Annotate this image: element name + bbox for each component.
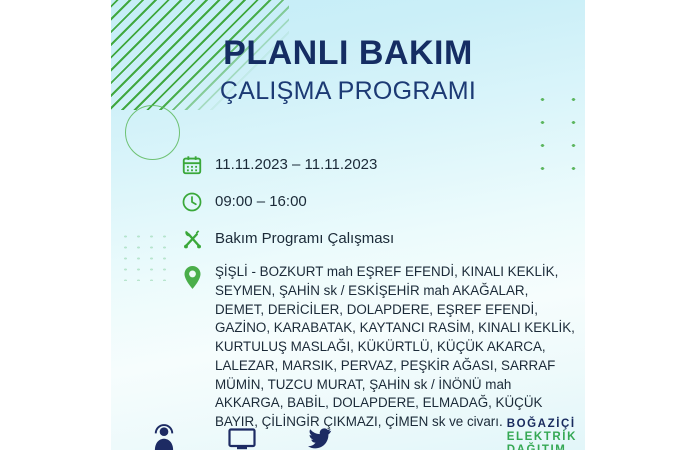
tools-icon: [179, 226, 205, 252]
info-row-address: ŞİŞLİ - BOZKURT mah EŞREF EFENDİ, KINALI…: [179, 263, 579, 432]
page-title: PLANLI BAKIM: [111, 36, 585, 72]
maintenance-notice-card: PLANLI BAKIM ÇALIŞMA PROGRAMI: [111, 0, 585, 450]
calendar-icon: [179, 152, 205, 178]
logo-line-3: DAĞITIM: [507, 444, 577, 450]
info-row-date: 11.11.2023 – 11.11.2023: [179, 152, 579, 178]
customer-service-icon[interactable]: [149, 424, 179, 450]
clock-icon: [179, 189, 205, 215]
logo-line-2: ELEKTRİK: [507, 431, 577, 444]
twitter-bird-icon[interactable]: [305, 424, 335, 450]
info-row-worktype: Bakım Programı Çalışması: [179, 226, 579, 252]
date-range-label: 11.11.2023 – 11.11.2023: [215, 152, 377, 175]
info-row-time: 09:00 – 16:00: [179, 189, 579, 215]
info-list: 11.11.2023 – 11.11.2023 09:00 – 16:00: [179, 152, 579, 432]
dot-grid-left-icon: [119, 231, 175, 281]
circle-outline-icon: [125, 105, 180, 160]
logo-line-1: BOĞAZİÇİ: [507, 418, 577, 431]
location-pin-icon: [179, 263, 205, 290]
page-subtitle: ÇALIŞMA PROGRAMI: [111, 76, 585, 106]
address-label: ŞİŞLİ - BOZKURT mah EŞREF EFENDİ, KINALI…: [215, 263, 579, 432]
footer-social-icons: [141, 424, 379, 450]
work-type-label: Bakım Programı Çalışması: [215, 226, 394, 249]
poster-page: PLANLI BAKIM ÇALIŞMA PROGRAMI: [0, 0, 690, 450]
company-logo: BOĞAZİÇİ ELEKTRİK DAĞITIM: [507, 418, 577, 450]
monitor-icon[interactable]: [227, 424, 257, 450]
header-titles: PLANLI BAKIM ÇALIŞMA PROGRAMI: [111, 36, 585, 106]
time-range-label: 09:00 – 16:00: [215, 189, 307, 212]
